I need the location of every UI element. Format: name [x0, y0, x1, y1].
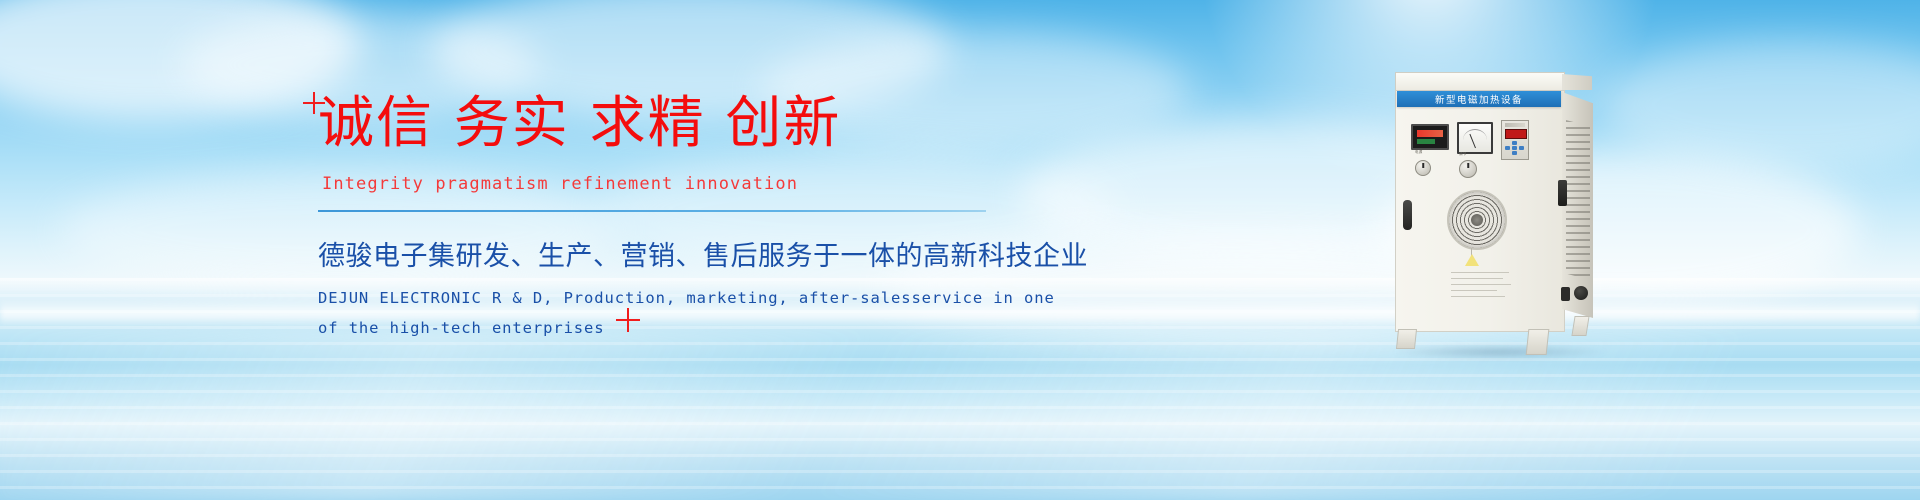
cabinet-top [1395, 72, 1565, 91]
knob-right-caption: 调节 [1459, 152, 1467, 157]
ventilation-slots [1566, 120, 1590, 280]
divider [318, 210, 986, 212]
spec-plate [1451, 272, 1513, 306]
cabinet-foot [1526, 329, 1550, 355]
product-image-heating-cabinet: 新型电磁加热设备 电源 调节 [1395, 72, 1595, 352]
promotional-banner: 诚信 务实 求精 创新 Integrity pragmatism refinem… [0, 0, 1920, 500]
power-knob [1415, 160, 1431, 176]
analog-ammeter [1457, 122, 1493, 154]
warning-triangle-icon [1465, 254, 1479, 266]
company-description-english-line1: DEJUN ELECTRONIC R & D, Production, mark… [318, 283, 1018, 313]
cabinet-foot [1571, 316, 1589, 336]
round-port [1574, 286, 1588, 300]
knob-left-caption: 电源 [1415, 150, 1423, 155]
sea-reflection [0, 330, 1920, 500]
cabinet-foot [1396, 329, 1417, 349]
banner-copy: 诚信 务实 求精 创新 Integrity pragmatism refinem… [318, 96, 1018, 343]
door-handle [1403, 200, 1412, 230]
company-description-english-line2: of the high-tech enterprises [318, 313, 1018, 343]
cabinet-top-side [1562, 74, 1592, 90]
adjust-knob [1459, 160, 1477, 178]
headline-slogan-english: Integrity pragmatism refinement innovati… [322, 174, 1018, 194]
product-label-text: 新型电磁加热设备 [1435, 92, 1523, 106]
led-keypad-controller [1501, 120, 1529, 160]
headline-slogan: 诚信 务实 求精 创新 [318, 96, 1018, 152]
product-label-bar: 新型电磁加热设备 [1397, 91, 1561, 107]
digital-display [1411, 124, 1449, 150]
cable-port [1561, 287, 1570, 301]
side-handle [1558, 180, 1567, 206]
fan-grille [1447, 190, 1507, 250]
company-description-chinese: 德骏电子集研发、生产、营销、售后服务于一体的高新科技企业 [318, 234, 1018, 273]
